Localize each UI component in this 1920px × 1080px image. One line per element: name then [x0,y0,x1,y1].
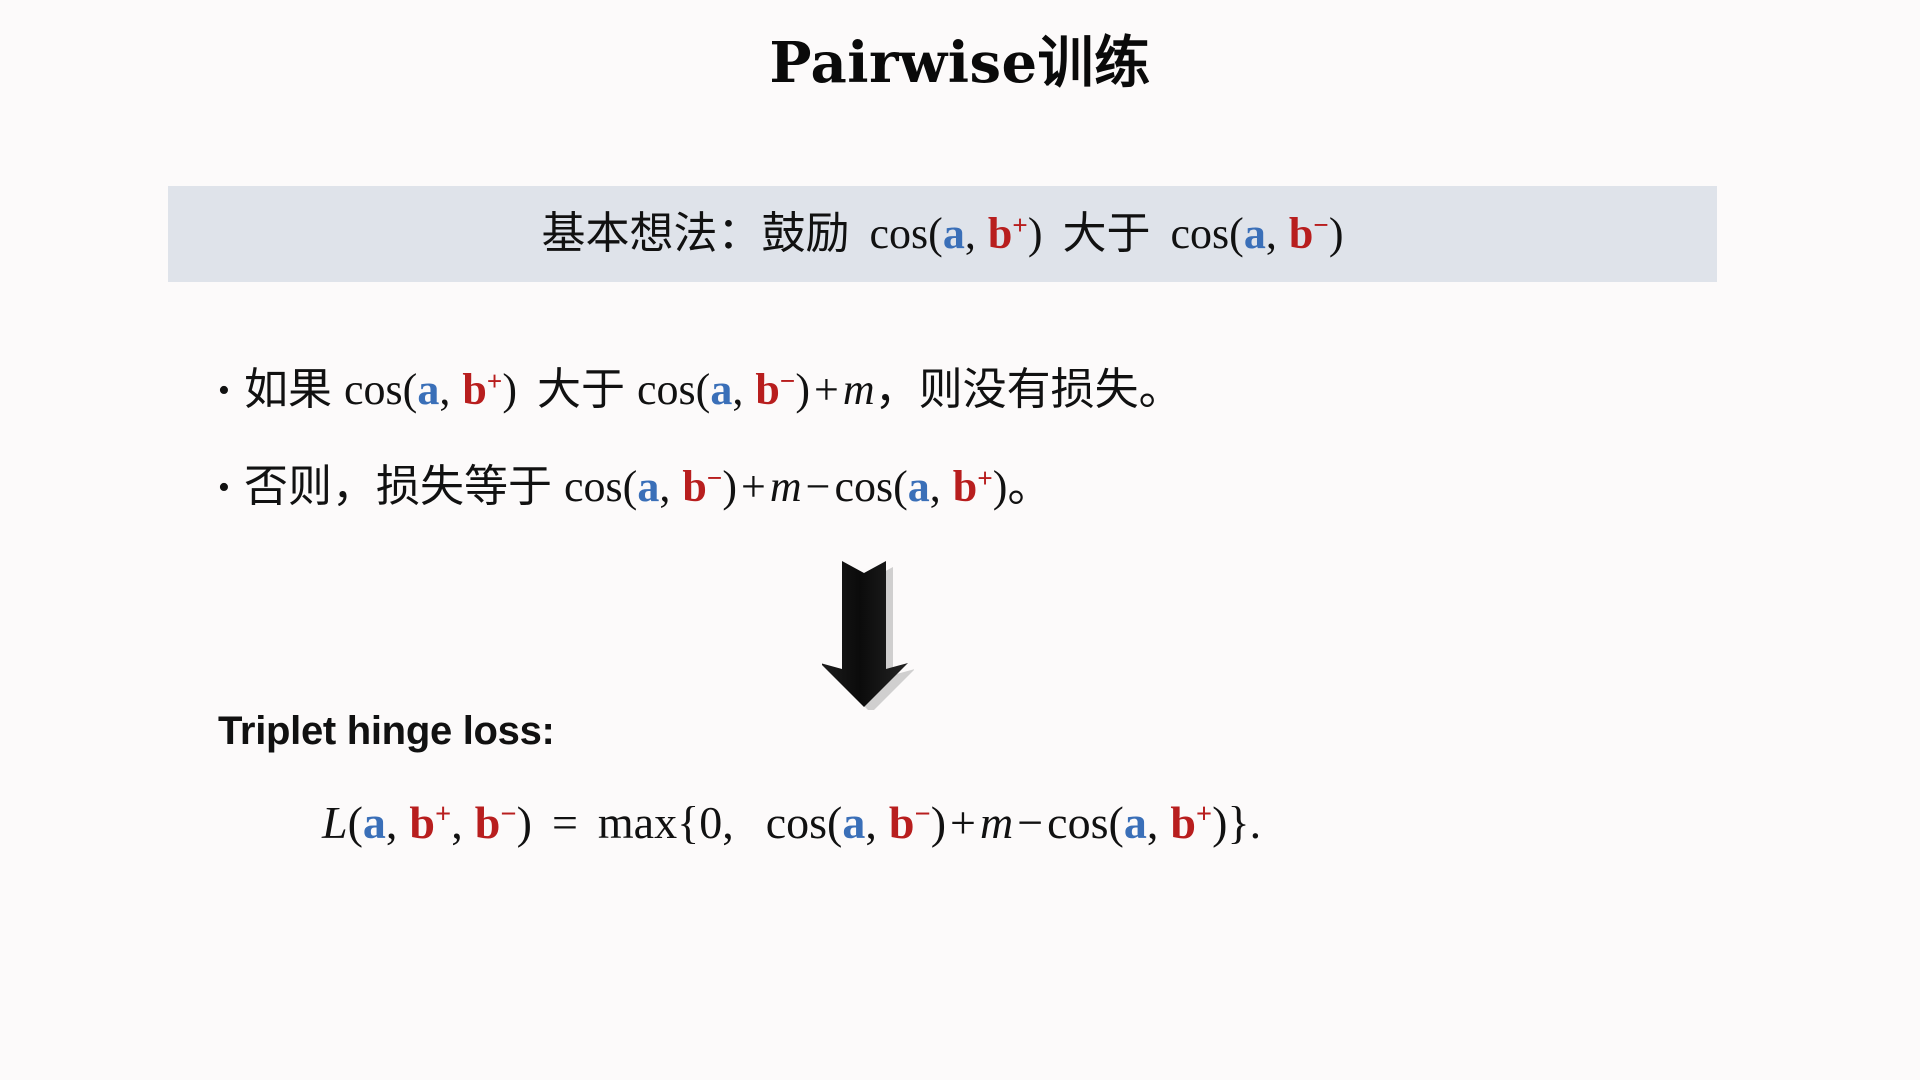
basic-idea-text: 基本想法：鼓励cos(a,b+)大于cos(a,b−) [542,212,1344,256]
rparen: ) [931,797,946,848]
basic-idea-callout-box: 基本想法：鼓励cos(a,b+)大于cos(a,b−) [168,186,1717,282]
cos-expression-positive: cos(a,b+) [870,209,1043,258]
rparen: ) [517,797,532,848]
cos-expression-negative: cos(a,b−) [1171,209,1344,258]
bullet-2-tail-text: 。 [1007,461,1051,512]
negative-vector-b: b [475,797,501,848]
formula-terminator: . [1250,797,1262,848]
minus-superscript: − [780,366,796,396]
anchor-vector-a: a [1244,209,1266,258]
lbrace: { [677,797,699,848]
comma: , [865,797,877,848]
negative-vector-b: b [889,797,915,848]
comma: , [386,797,398,848]
list-item: •否则，损失等于cos(a,b−)+m−cos(a,b+)。 [218,465,1051,509]
rparen: ) [1329,209,1344,258]
cos-label: cos [564,462,623,511]
list-item: •如果cos(a,b+)大于cos(a,b−)+m，则没有损失。 [218,368,1183,412]
minus-superscript: − [914,799,930,830]
bullet-1-comparator: 大于 [537,364,625,415]
positive-vector-b: b [953,462,977,511]
comma: , [659,462,670,511]
equals-operator: = [552,797,578,848]
lparen: ( [403,365,418,414]
negative-vector-b: b [1289,209,1313,258]
cos-expression-positive: cos(a,b+) [344,365,517,414]
rparen: ) [1212,797,1227,848]
positive-vector-b: b [462,365,486,414]
comma: , [930,462,941,511]
rparen: ) [722,462,737,511]
cos-expression-negative: cos(a,b−) [564,462,737,511]
lparen: ( [623,462,638,511]
positive-vector-b: b [409,797,435,848]
comma: , [732,365,743,414]
plus-operator: + [810,365,843,414]
max-label: max [598,797,677,848]
cos-expression-negative: cos(a,b−) [637,365,810,414]
anchor-vector-a: a [1124,797,1147,848]
cos-label: cos [766,797,827,848]
lparen: ( [928,209,943,258]
cos-label: cos [1171,209,1230,258]
cos-label: cos [637,365,696,414]
anchor-vector-a: a [710,365,732,414]
anchor-vector-a: a [417,365,439,414]
rparen: ) [795,365,810,414]
comma: , [1266,209,1277,258]
lparen: ( [348,797,363,848]
plus-operator: + [946,797,980,848]
cos-label: cos [344,365,403,414]
negative-vector-b: b [755,365,779,414]
anchor-vector-a: a [908,462,930,511]
basic-idea-prefix: 基本想法：鼓励 [542,208,850,259]
cos-expression-positive: cos(a,b+) [834,462,1007,511]
rparen: ) [502,365,517,414]
comma: , [1147,797,1159,848]
loss-function-symbol: L [322,797,348,848]
comparator-label: 大于 [1063,208,1151,259]
plus-superscript: + [1196,799,1212,830]
positive-vector-b: b [988,209,1012,258]
plus-superscript: + [435,799,451,830]
cos-expression-negative: cos(a,b−) [766,797,946,848]
down-arrow-icon [822,554,914,710]
loss-formula: L(a,b+,b−)=max{0,cos(a,b−)+m−cos(a,b+)}. [322,800,1261,846]
anchor-vector-a: a [637,462,659,511]
rbrace: } [1227,797,1249,848]
bullet-1-lead-text: 如果 [244,364,332,415]
margin-symbol-m: m [980,797,1013,848]
lparen: ( [696,365,711,414]
anchor-vector-a: a [943,209,965,258]
cos-expression-positive: cos(a,b+) [1047,797,1227,848]
lparen: ( [1108,797,1123,848]
lparen: ( [827,797,842,848]
minus-operator: − [1013,797,1047,848]
minus-operator: − [802,462,835,511]
plus-superscript: + [977,463,993,493]
anchor-vector-a: a [363,797,386,848]
bullet-marker: • [218,471,244,505]
lparen: ( [893,462,908,511]
plus-superscript: + [487,366,503,396]
page-title: Pairwise训练 [0,18,1920,99]
rparen: ) [1028,209,1043,258]
comma: , [451,797,463,848]
comma: , [439,365,450,414]
lparen: ( [1229,209,1244,258]
minus-superscript: − [1313,210,1329,240]
rparen: ) [993,462,1008,511]
cos-label: cos [870,209,929,258]
anchor-vector-a: a [842,797,865,848]
triplet-hinge-loss-heading: Triplet hinge loss: [218,709,555,754]
negative-vector-b: b [682,462,706,511]
comma: , [722,797,734,848]
minus-superscript: − [707,463,723,493]
cos-label: cos [834,462,893,511]
comma: , [965,209,976,258]
positive-vector-b: b [1170,797,1196,848]
plus-superscript: + [1012,210,1028,240]
margin-symbol-m: m [770,462,802,511]
bullet-marker: • [218,374,244,408]
bullet-1-tail-text: ，则没有损失。 [875,364,1183,415]
plus-operator: + [737,462,770,511]
zero-value: 0 [699,797,722,848]
margin-symbol-m: m [843,365,875,414]
minus-superscript: − [500,799,516,830]
bullet-2-lead-text: 否则，损失等于 [244,461,552,512]
cos-label: cos [1047,797,1108,848]
